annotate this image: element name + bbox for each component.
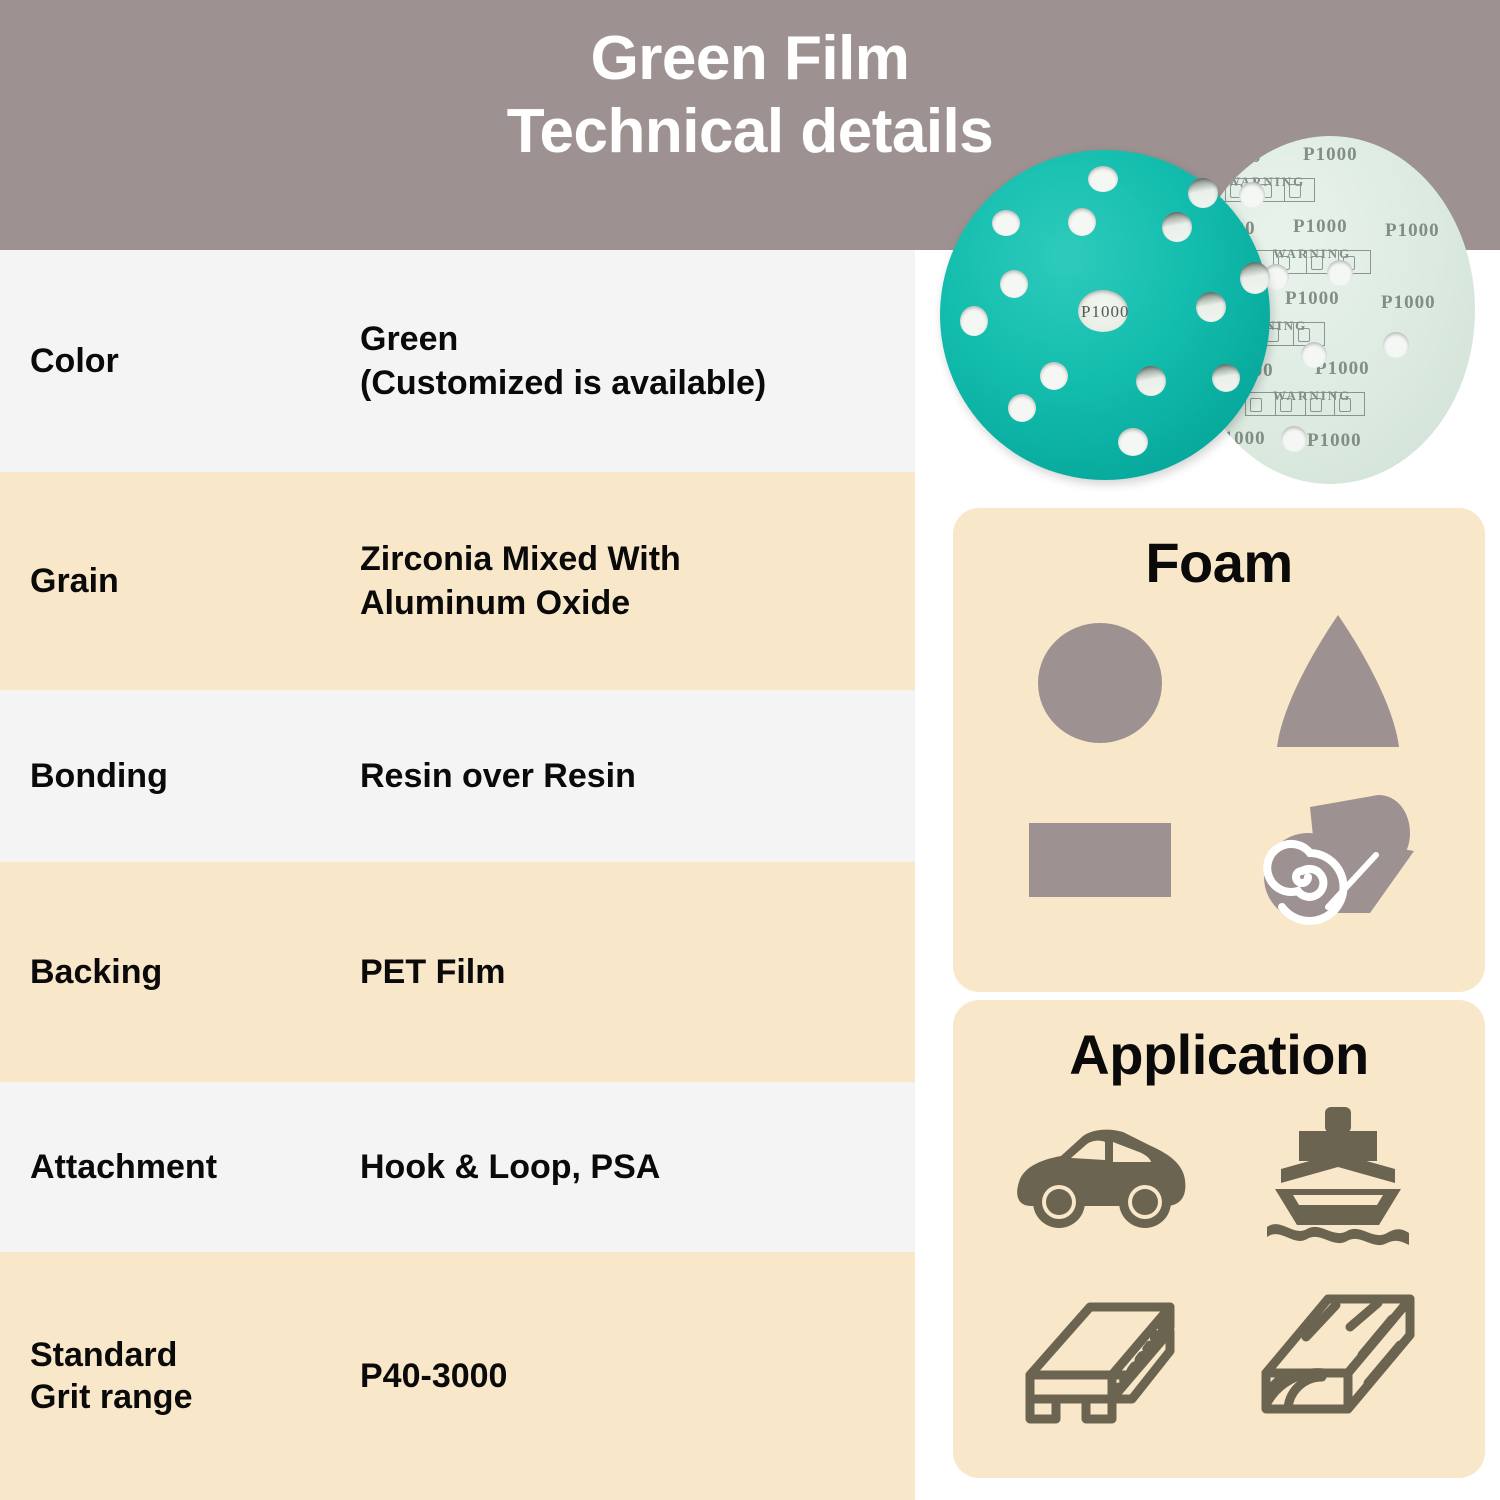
disc-hole xyxy=(992,210,1020,236)
disc-hole xyxy=(1000,270,1028,298)
spec-value: Green (Customized is available) xyxy=(360,317,915,405)
disc-hole xyxy=(1281,426,1307,452)
grit-mark: P1000 xyxy=(1285,288,1340,310)
disc-hole xyxy=(1212,364,1240,392)
disc-hole xyxy=(1118,428,1148,456)
grit-mark: P1000 xyxy=(1293,216,1348,238)
table-row: Color Green (Customized is available) xyxy=(0,250,915,472)
disc-grit-label: P1000 xyxy=(1081,302,1129,322)
grit-mark: P1000 xyxy=(1207,146,1262,168)
disc-hole xyxy=(1196,292,1226,322)
green-film-sanding-disc: P1000 xyxy=(940,150,1270,480)
spec-value: Hook & Loop, PSA xyxy=(360,1145,915,1189)
steel-beam-icon xyxy=(981,1263,1219,1439)
ship-icon xyxy=(1219,1087,1457,1263)
grit-mark: P1000 xyxy=(1303,144,1358,166)
foam-block-icon xyxy=(981,771,1219,947)
foam-card-title: Foam xyxy=(953,508,1485,595)
disc-hole xyxy=(960,306,988,336)
grit-mark: P1000 xyxy=(1307,430,1362,452)
spec-value: P40-3000 xyxy=(360,1354,915,1398)
spec-value: Zirconia Mixed With Aluminum Oxide xyxy=(360,537,915,625)
disc-hole xyxy=(1240,262,1270,294)
foam-icon-grid xyxy=(953,595,1485,947)
foam-card: Foam xyxy=(953,508,1485,992)
specification-table: Color Green (Customized is available) Gr… xyxy=(0,250,915,1500)
warning-label: WARNING xyxy=(1273,388,1351,404)
spec-value: PET Film xyxy=(360,950,915,994)
product-photo: P1000 P1000 WARNING P1000 P1000 P1000 WA… xyxy=(930,130,1500,490)
table-row: Grain Zirconia Mixed With Aluminum Oxide xyxy=(0,472,915,690)
foam-triangle-icon xyxy=(1219,595,1457,771)
table-row: Bonding Resin over Resin xyxy=(0,690,915,862)
foam-disc-icon xyxy=(981,595,1219,771)
table-row: Backing PET Film xyxy=(0,862,915,1082)
spec-label: Standard Grit range xyxy=(0,1334,360,1418)
disc-hole xyxy=(1301,342,1327,368)
spec-value: Resin over Resin xyxy=(360,754,915,798)
application-card-title: Application xyxy=(953,1000,1485,1087)
car-icon xyxy=(981,1087,1219,1263)
disc-hole xyxy=(1188,178,1218,208)
spec-label: Color xyxy=(0,340,360,382)
spec-label: Attachment xyxy=(0,1146,360,1188)
application-icon-grid xyxy=(953,1087,1485,1439)
disc-hole xyxy=(1239,182,1265,208)
disc-hole xyxy=(1383,332,1409,358)
spec-label: Backing xyxy=(0,951,360,993)
warning-label: WARNING xyxy=(1227,174,1305,190)
disc-hole xyxy=(1136,366,1166,396)
timber-icon xyxy=(1219,1263,1457,1439)
foam-roll-icon xyxy=(1219,771,1457,947)
infographic-page: Green Film Technical details P1000 P1000… xyxy=(0,0,1500,1500)
table-row: Attachment Hook & Loop, PSA xyxy=(0,1082,915,1252)
disc-hole xyxy=(1088,166,1118,192)
disc-hole xyxy=(1008,394,1036,422)
grit-mark: P1000 xyxy=(1385,220,1440,242)
spec-label: Grain xyxy=(0,560,360,602)
table-row: Standard Grit range P40-3000 xyxy=(0,1252,915,1500)
disc-hole xyxy=(1040,362,1068,390)
application-card: Application xyxy=(953,1000,1485,1478)
spec-label: Bonding xyxy=(0,755,360,797)
disc-hole xyxy=(1068,208,1096,236)
disc-hole xyxy=(1327,260,1353,286)
disc-hole xyxy=(1162,212,1192,242)
grit-mark: P1000 xyxy=(1381,292,1436,314)
